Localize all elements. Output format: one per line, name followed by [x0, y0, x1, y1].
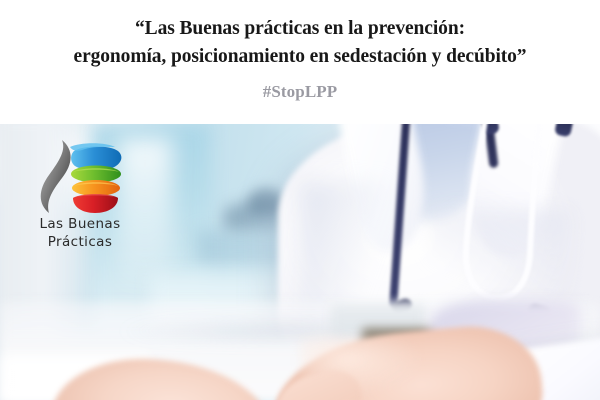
campaign-hashtag: #StopLPP: [0, 70, 600, 103]
page-title-line-2: ergonomía, posicionamiento en sedestació…: [0, 42, 600, 70]
logo-text-line-1: Las Buenas: [18, 216, 142, 232]
stethoscope-cord-icon: [452, 122, 572, 312]
title-block: “Las Buenas prácticas en la prevención: …: [0, 0, 600, 124]
promo-banner: “Las Buenas prácticas en la prevención: …: [0, 0, 600, 400]
brand-logo[interactable]: Las Buenas Prácticas: [18, 134, 142, 260]
page-title-line-1: “Las Buenas prácticas en la prevención:: [0, 0, 600, 42]
logo-text-line-2: Prácticas: [18, 234, 142, 250]
logo-swoosh-icon: [41, 140, 71, 213]
logo-discs-icon: [70, 143, 121, 213]
logo-mark-icon: [18, 134, 142, 216]
